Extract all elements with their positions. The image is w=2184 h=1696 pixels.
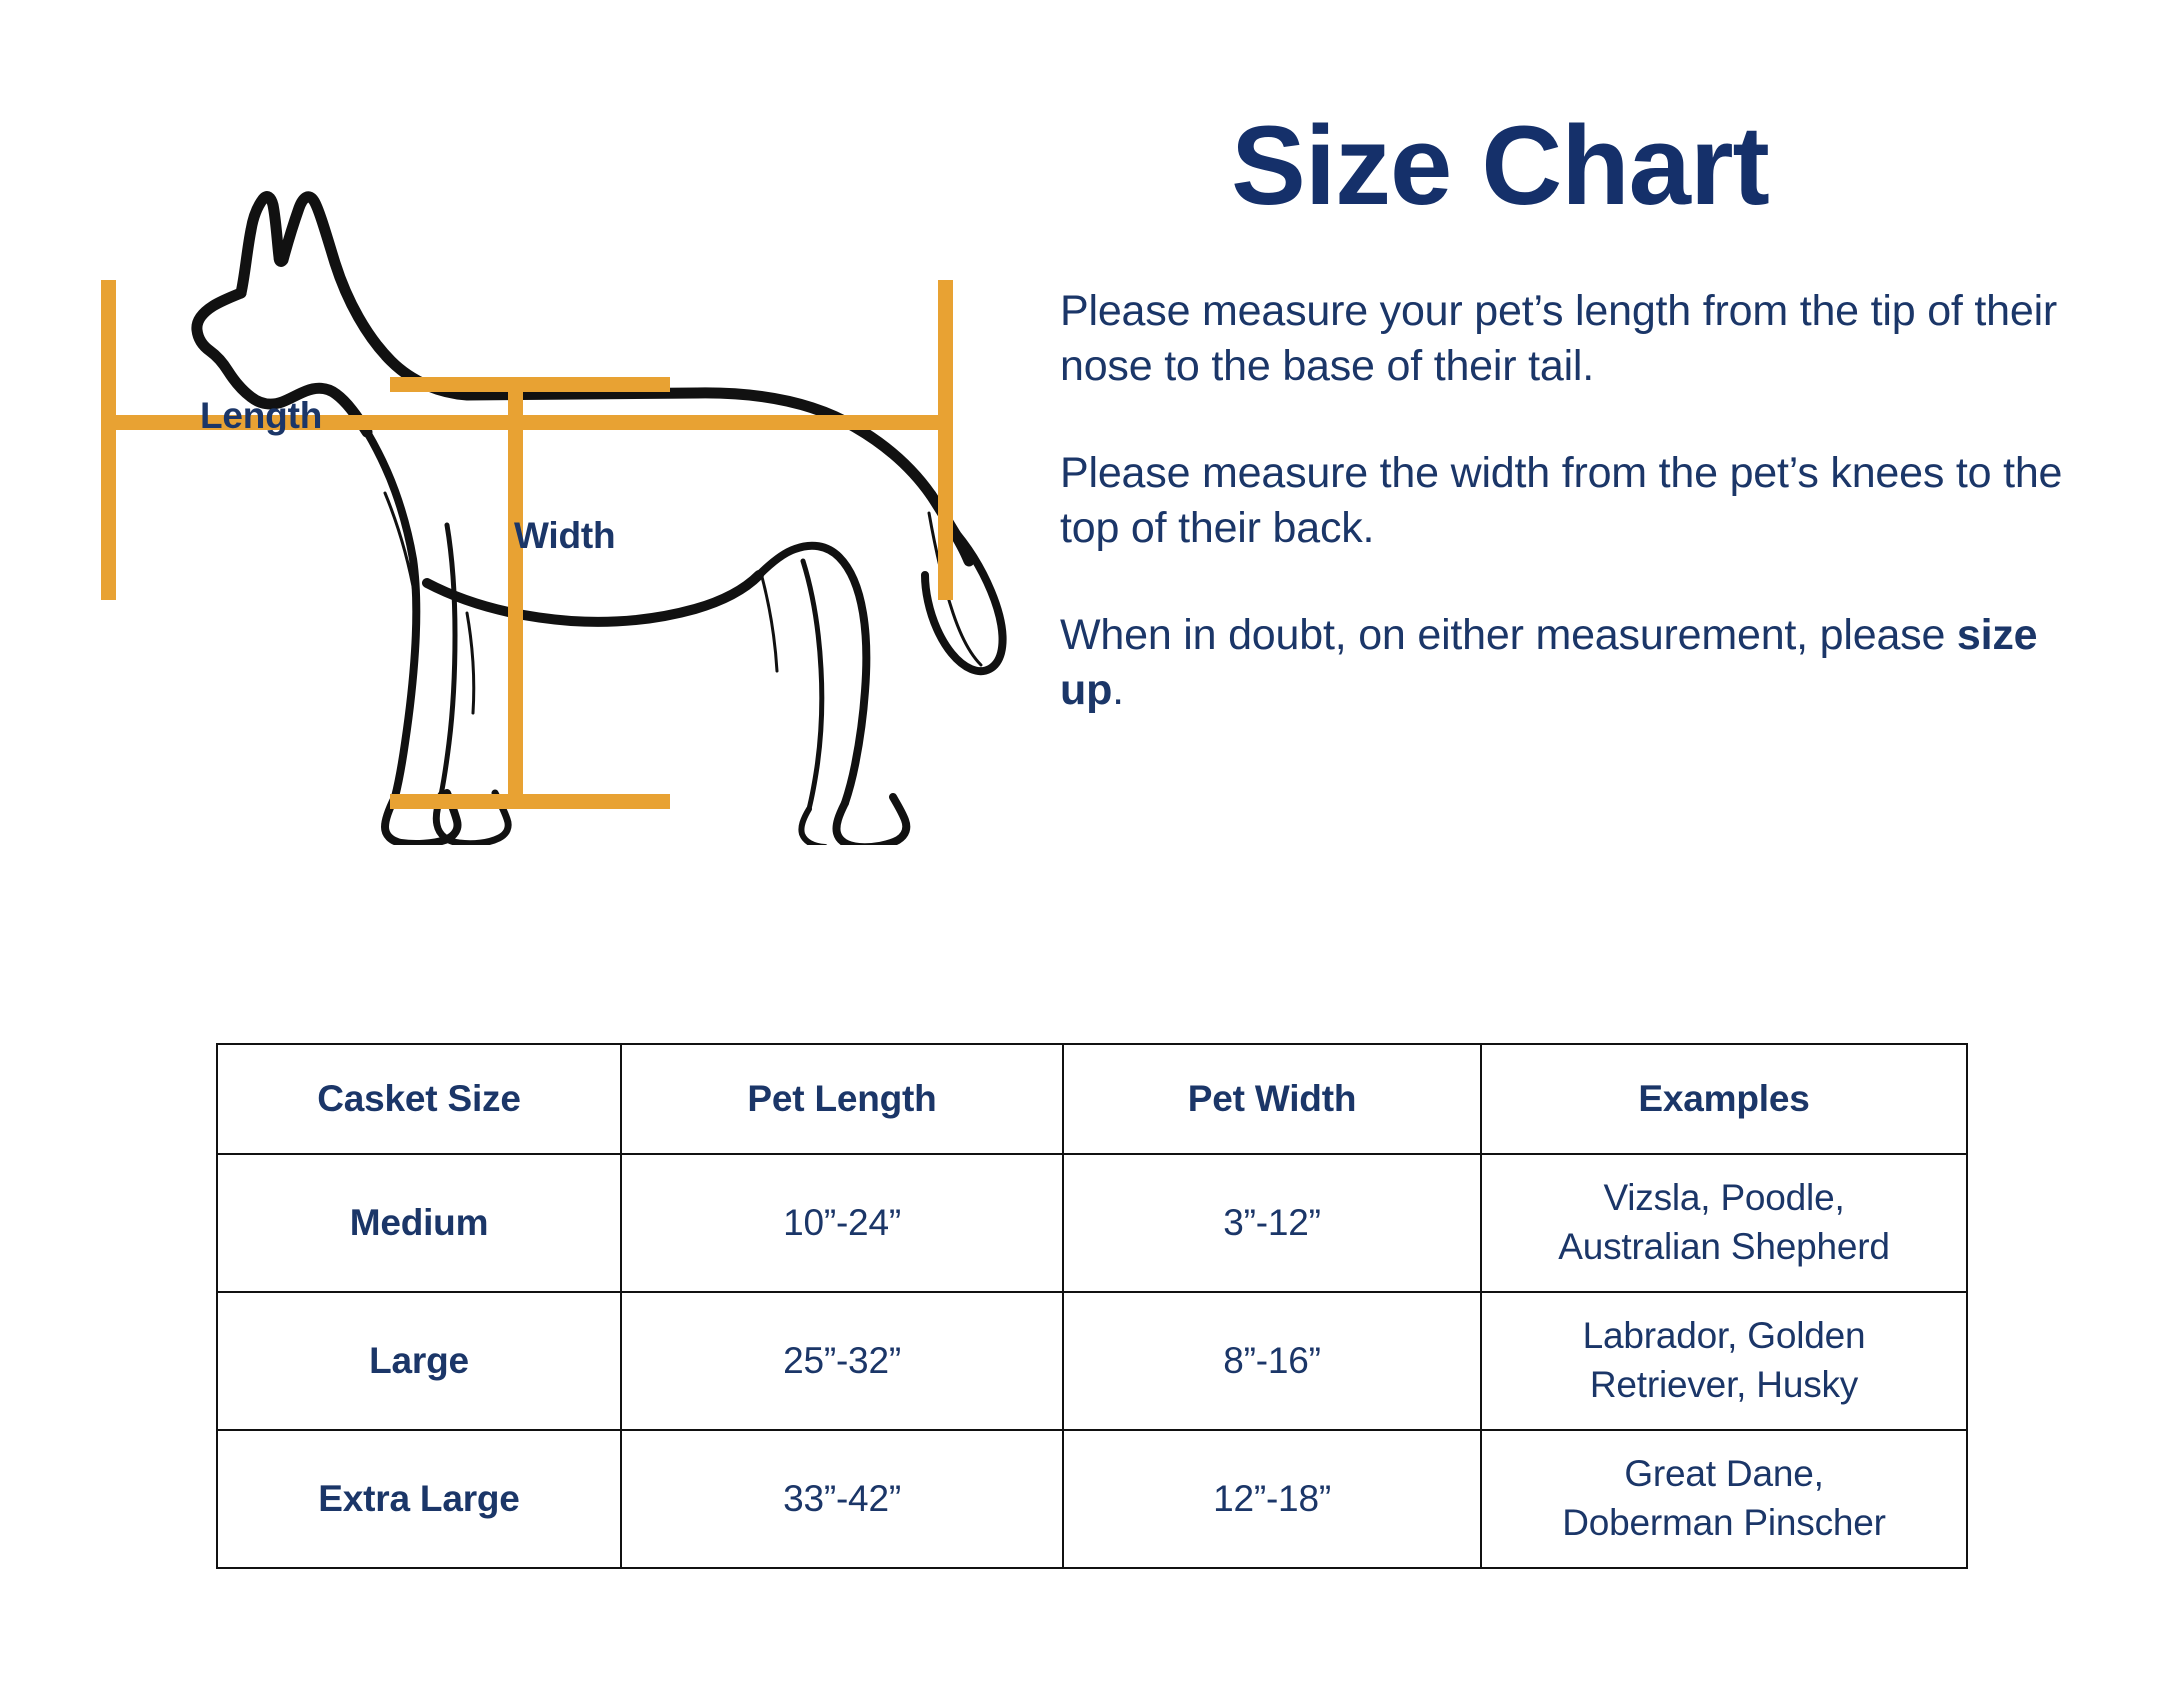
dog-measurement-diagram: Length Width [55,75,1045,845]
size-up-trail: . [1112,666,1124,714]
page-title: Size Chart [1060,110,2090,222]
column-header-casket-size: Casket Size [217,1044,621,1154]
dog-silhouette-svg [55,75,1045,845]
width-bottom-cap [390,794,670,809]
cell-pet-width: 8”-16” [1063,1292,1481,1430]
examples-line-1: Vizsla, Poodle, [1603,1177,1844,1218]
table-row: Large 25”-32” 8”-16” Labrador, Golden Re… [217,1292,1967,1430]
cell-examples: Labrador, Golden Retriever, Husky [1481,1292,1967,1430]
column-header-pet-width: Pet Width [1063,1044,1481,1154]
column-header-pet-length: Pet Length [621,1044,1063,1154]
length-instruction: Please measure your pet’s length from th… [1060,284,2090,394]
length-label: Length [200,395,322,437]
table-header-row: Casket Size Pet Length Pet Width Example… [217,1044,1967,1154]
cell-pet-width: 3”-12” [1063,1154,1481,1292]
column-header-examples: Examples [1481,1044,1967,1154]
size-table-container: Casket Size Pet Length Pet Width Example… [216,1043,1966,1569]
size-up-lead: When in doubt, on either measurement, pl… [1060,611,1957,659]
examples-line-2: Australian Shepherd [1558,1226,1889,1267]
examples-line-1: Labrador, Golden [1583,1315,1866,1356]
length-right-cap [938,280,953,600]
cell-pet-width: 12”-18” [1063,1430,1481,1568]
size-chart-page: Length Width Size Chart Please measure y… [0,0,2184,1696]
pet-size-table: Casket Size Pet Length Pet Width Example… [216,1043,1968,1569]
cell-pet-length: 25”-32” [621,1292,1063,1430]
width-top-cap [390,377,670,392]
cell-examples: Great Dane, Doberman Pinscher [1481,1430,1967,1568]
cell-pet-length: 33”-42” [621,1430,1063,1568]
cell-casket-size: Extra Large [217,1430,621,1568]
cell-pet-length: 10”-24” [621,1154,1063,1292]
instructions-column: Size Chart Please measure your pet’s len… [1060,110,2090,718]
size-up-instruction: When in doubt, on either measurement, pl… [1060,608,2090,718]
width-vertical-line [508,377,523,809]
width-label: Width [514,515,615,557]
cell-casket-size: Large [217,1292,621,1430]
table-row: Medium 10”-24” 3”-12” Vizsla, Poodle, Au… [217,1154,1967,1292]
length-left-cap [101,280,116,600]
width-instruction: Please measure the width from the pet’s … [1060,446,2090,556]
cell-examples: Vizsla, Poodle, Australian Shepherd [1481,1154,1967,1292]
examples-line-2: Doberman Pinscher [1562,1502,1886,1543]
cell-casket-size: Medium [217,1154,621,1292]
examples-line-1: Great Dane, [1624,1453,1823,1494]
table-row: Extra Large 33”-42” 12”-18” Great Dane, … [217,1430,1967,1568]
examples-line-2: Retriever, Husky [1590,1364,1858,1405]
